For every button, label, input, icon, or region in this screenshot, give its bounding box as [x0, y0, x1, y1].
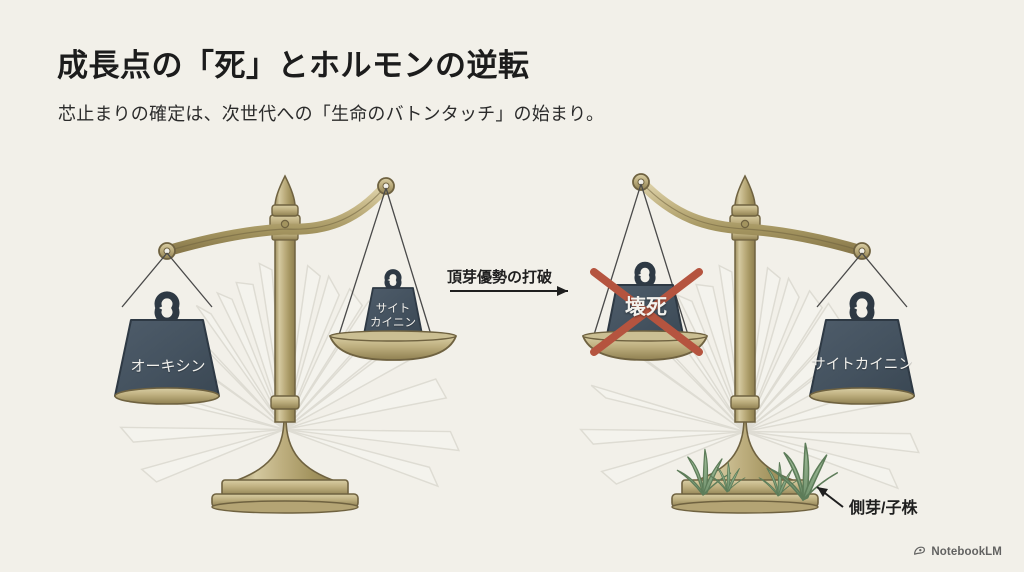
- right-scale-right-pan-cytokinin: [810, 253, 914, 404]
- right-scale-left-pan-necrosis: [583, 184, 707, 360]
- transition-arrow: [450, 286, 568, 296]
- notebooklm-logo-icon: [913, 545, 926, 558]
- side-shoot-caption: 側芽/子株: [849, 494, 917, 518]
- slide-canvas: 成長点の「死」とホルモンの逆転 芯止まりの確定は、次世代への「生命のバトンタッチ…: [0, 0, 1024, 572]
- notebooklm-watermark-label: NotebookLM: [931, 546, 1002, 558]
- notebooklm-watermark: NotebookLM: [913, 545, 1002, 558]
- right-scale-column: [730, 176, 760, 422]
- left-scale-left-pan-auxin: [115, 253, 219, 404]
- left-scale-column: [270, 176, 300, 422]
- transition-arrow-caption: 頂芽優勢の打破: [447, 266, 552, 287]
- shoot-pointer-arrow: [817, 487, 843, 507]
